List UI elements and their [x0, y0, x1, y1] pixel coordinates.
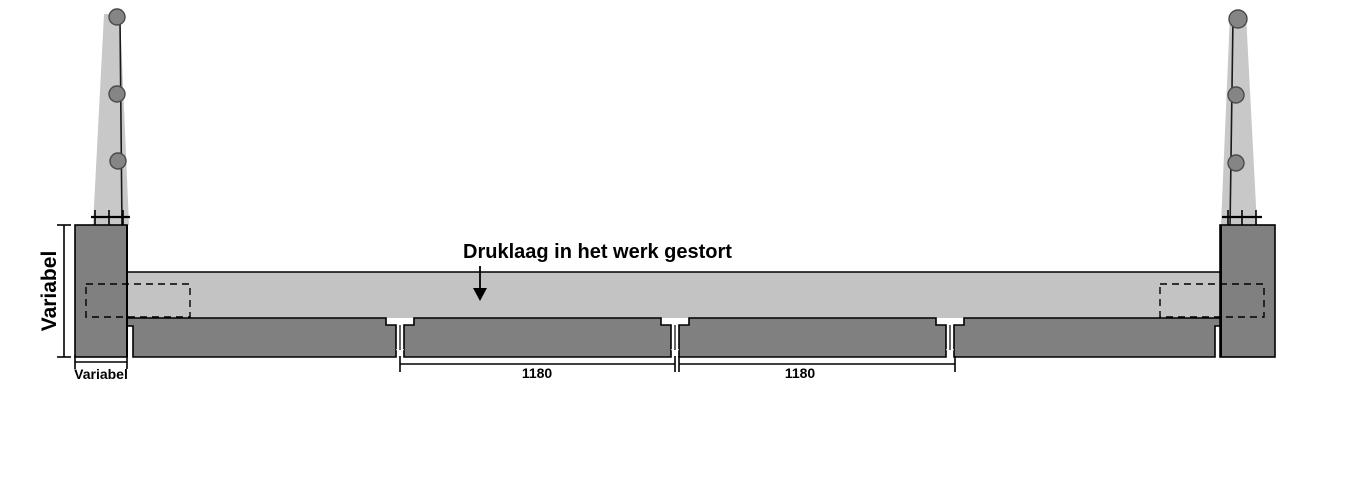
post-node-circle-right-bottom — [1228, 155, 1244, 171]
dimension-span-right: 1180 — [679, 356, 955, 381]
joint-v-notch-1 — [396, 349, 404, 357]
joint-v-notch-2 — [671, 349, 679, 357]
post-node-circle-left-bottom — [110, 153, 126, 169]
dimension-span-left: 1180 — [400, 356, 675, 381]
cross-section-svg: Druklaag in het werk gestort Variabel Va… — [0, 0, 1367, 478]
dim-span-left-label: 1180 — [522, 365, 553, 381]
support-column-left — [75, 225, 127, 357]
precast-beam-row — [127, 318, 1221, 357]
post-taper-shape-right — [1221, 14, 1257, 225]
support-column-right — [1220, 225, 1275, 357]
post-node-circle-right-top — [1229, 10, 1247, 28]
topping-label-text: Druklaag in het werk gestort — [463, 241, 732, 263]
post-node-circle-left-top — [109, 9, 125, 25]
support-column-left-body — [75, 225, 127, 357]
post-node-circle-left-middle — [109, 86, 125, 102]
cast-in-situ-topping-slab — [127, 272, 1221, 318]
precast-beam-segment-3 — [679, 318, 946, 357]
support-column-right-body — [1220, 225, 1275, 357]
precast-beam-segment-2 — [404, 318, 671, 357]
post-node-circle-right-middle — [1228, 87, 1244, 103]
dimension-column-height: Variabel — [38, 225, 71, 357]
precast-beam-segment-1 — [127, 318, 396, 357]
topping-slab-body — [127, 272, 1221, 318]
dim-width-label: Variabel — [74, 366, 128, 382]
dimension-column-width: Variabel — [74, 355, 128, 382]
dim-height-label: Variabel — [38, 251, 61, 332]
dim-span-right-label: 1180 — [785, 365, 816, 381]
joint-v-notch-3 — [946, 349, 954, 357]
precast-beam-segment-4 — [954, 318, 1221, 357]
tapered-post-left — [91, 9, 130, 240]
technical-drawing-canvas: Druklaag in het werk gestort Variabel Va… — [0, 0, 1367, 478]
post-taper-shape-left — [93, 14, 129, 225]
tapered-post-right — [1221, 10, 1262, 240]
